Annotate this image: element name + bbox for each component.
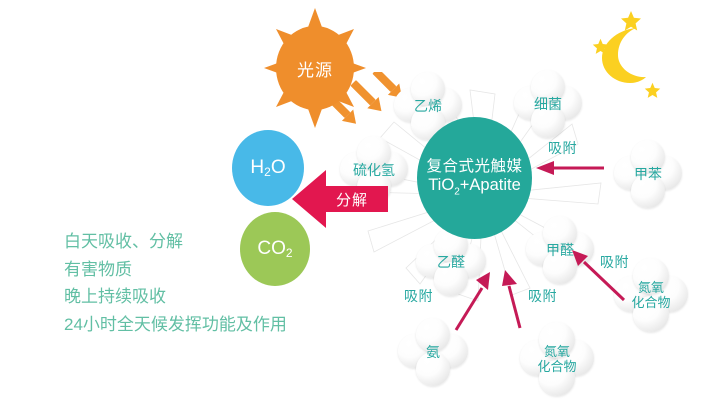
adsorb-arrow-nitrogen-oxides-1 xyxy=(498,268,532,330)
caption-block: 白天吸收、分解 有害物质 晚上持续吸收 24小时全天候发挥功能及作用 xyxy=(64,228,354,338)
caption-line-4: 24小时全天候发挥功能及作用 xyxy=(64,311,354,339)
bubble-nitrogen-oxides-1: 氮氧 化合物 xyxy=(518,322,596,398)
h2o-label: H2O xyxy=(250,157,285,179)
caption-line-3: 晚上持续吸收 xyxy=(64,283,354,311)
adsorb-label-nitrogen-oxides-2: 吸附 xyxy=(600,252,629,272)
bubble-bacteria: 细菌 xyxy=(512,70,584,140)
core-formula: TiO2+Apatite xyxy=(428,176,521,198)
infographic-canvas: 光源 xyxy=(0,0,720,420)
bubble-toluene: 甲苯 xyxy=(612,140,684,210)
caption-line-2: 有害物质 xyxy=(64,256,354,284)
star-icon-3 xyxy=(644,82,661,99)
adsorb-arrow-ammonia xyxy=(452,268,496,332)
adsorb-label-ammonia: 吸附 xyxy=(404,286,433,306)
caption-line-1: 白天吸收、分解 xyxy=(64,228,354,256)
decompose-arrow-icon xyxy=(292,170,388,228)
core-photocatalyst-circle: 复合式光触媒 TiO2+Apatite xyxy=(417,117,532,239)
sun-label: 光源 xyxy=(297,56,333,81)
core-title: 复合式光触媒 xyxy=(426,158,522,176)
crescent-moon-icon xyxy=(596,26,650,84)
adsorb-label-nitrogen-oxides-1: 吸附 xyxy=(528,286,557,306)
adsorb-label-toluene: 吸附 xyxy=(548,138,577,158)
sun-disc: 光源 xyxy=(276,26,354,110)
adsorb-arrow-toluene xyxy=(534,158,606,178)
